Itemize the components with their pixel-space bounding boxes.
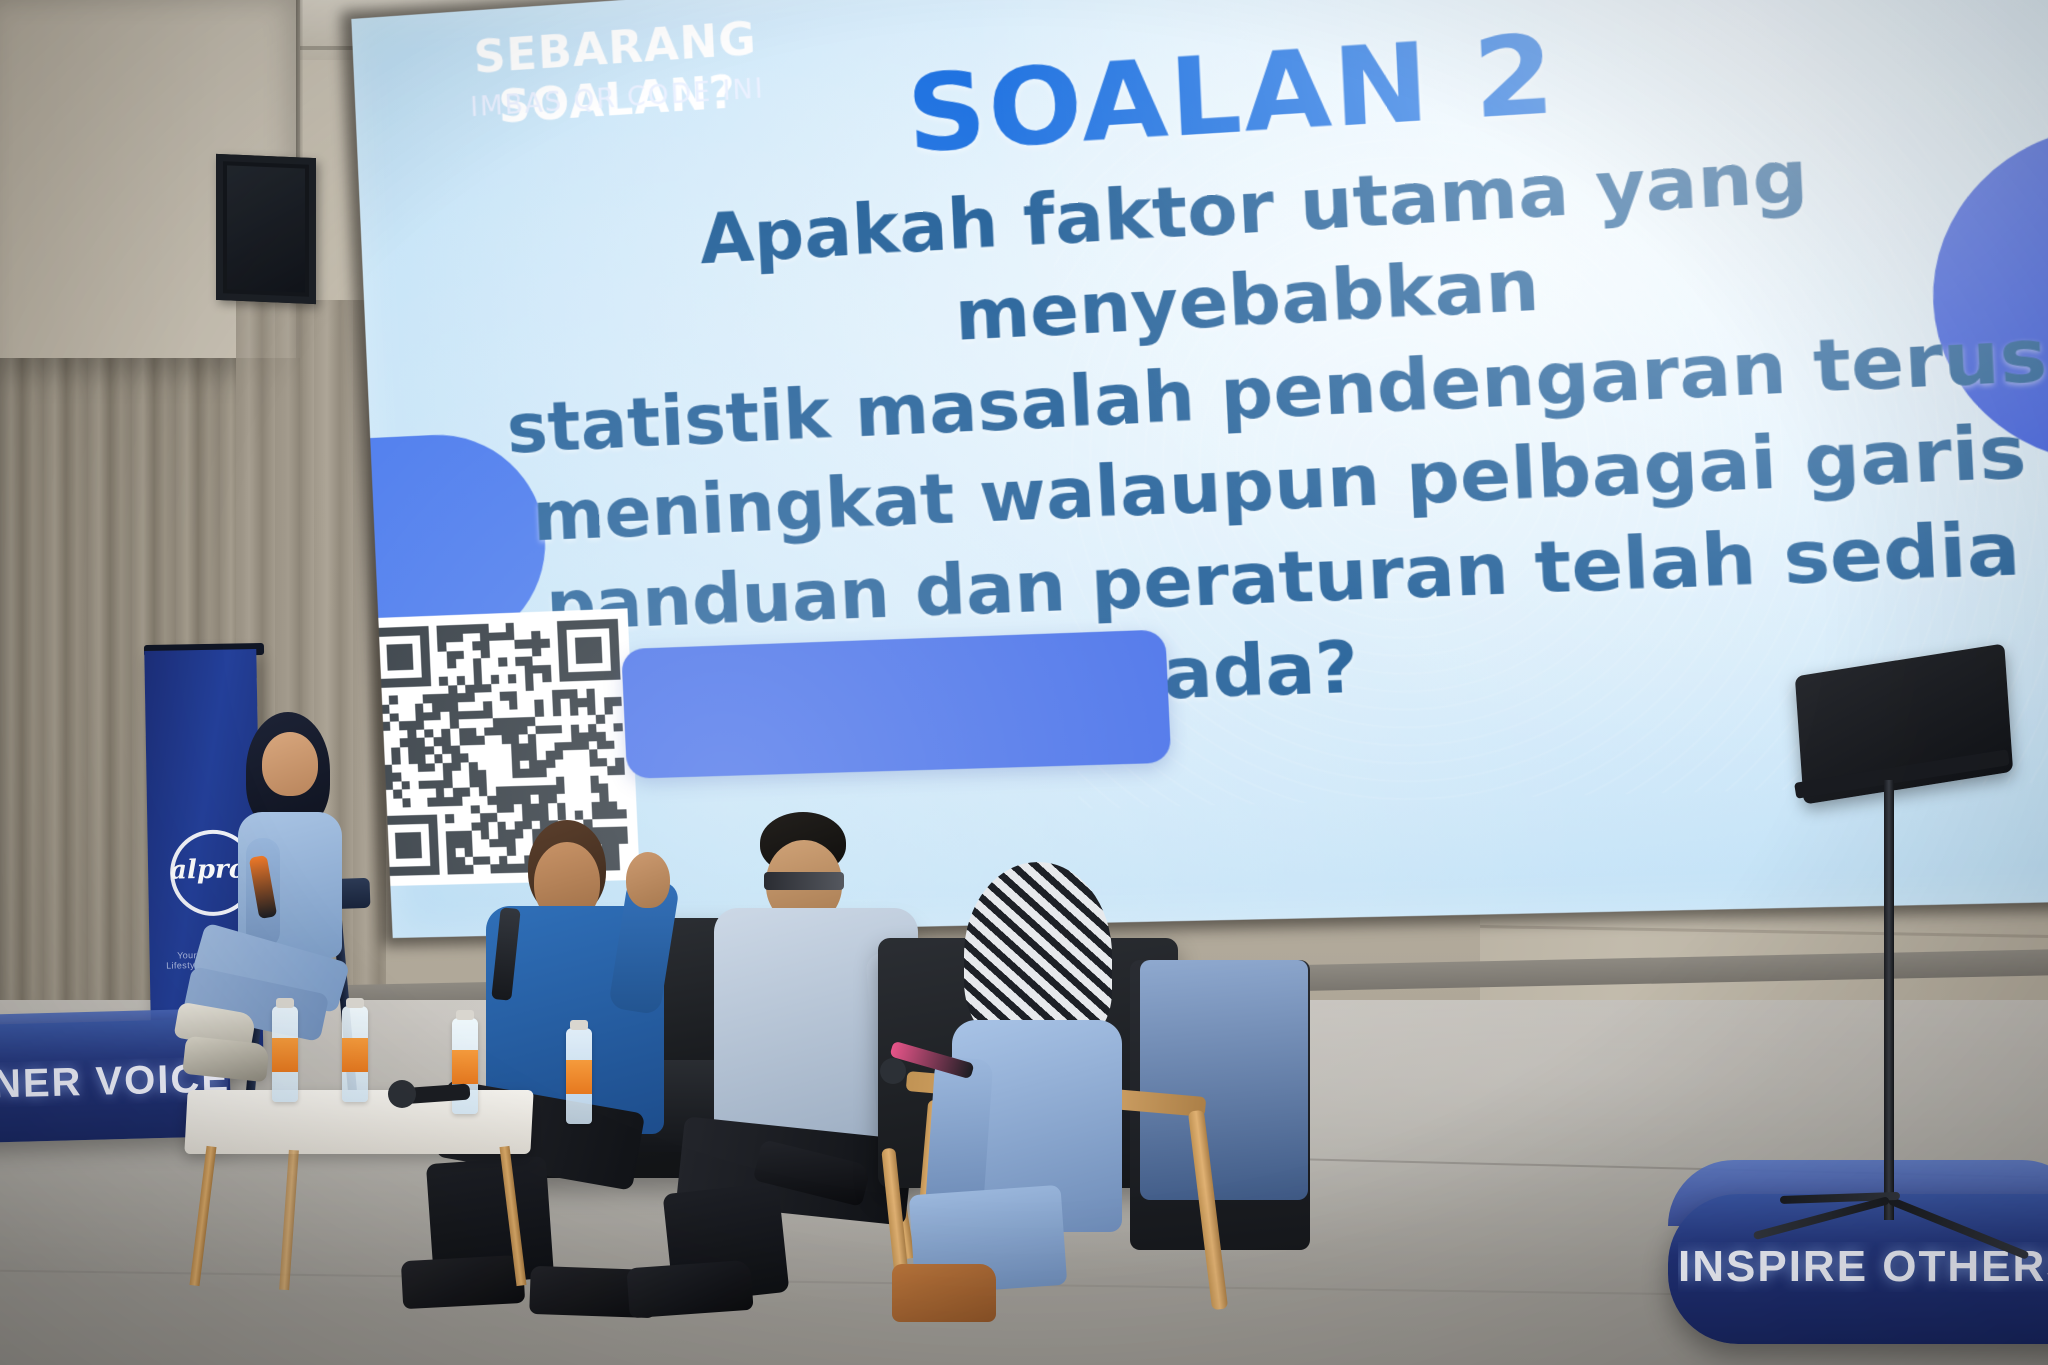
speaker-3-mic-head: [880, 1058, 906, 1084]
bottle-label: [342, 1038, 368, 1072]
armchair-right-cushion: [1140, 960, 1308, 1200]
bottle-label: [452, 1050, 478, 1084]
bottle-label: [566, 1060, 592, 1094]
speaker-2-shoe: [626, 1260, 753, 1319]
cta-banner[interactable]: [621, 629, 1171, 778]
water-bottle: [566, 1028, 592, 1124]
bottle-cap: [456, 1010, 474, 1020]
bottle-label: [272, 1038, 298, 1072]
wall-picture-frame: [216, 154, 316, 304]
water-bottle: [272, 1006, 298, 1102]
speaker-2-glasses: [764, 872, 844, 890]
stage-photo-scene: SOALAN 2 Apakah faktor utama yang menyeb…: [0, 0, 2048, 1365]
moderator-face: [262, 732, 318, 796]
projection-screen: SOALAN 2 Apakah faktor utama yang menyeb…: [351, 0, 2048, 938]
music-stand-pole: [1884, 780, 1894, 1220]
bottle-cap: [276, 998, 294, 1008]
water-bottle: [342, 1006, 368, 1102]
projection-screen-wrapper: SOALAN 2 Apakah faktor utama yang menyeb…: [351, 0, 2048, 938]
table-microphone-head: [388, 1080, 416, 1108]
podium-right-label: INSPIRE OTHERS: [1678, 1242, 2048, 1292]
speaker-1-hand: [626, 852, 670, 908]
bottle-cap: [570, 1020, 588, 1030]
frame-inner: [227, 165, 305, 292]
speaker-3-shoe: [892, 1264, 996, 1322]
bottle-cap: [346, 998, 364, 1008]
speaker-1-shoe: [401, 1255, 525, 1309]
